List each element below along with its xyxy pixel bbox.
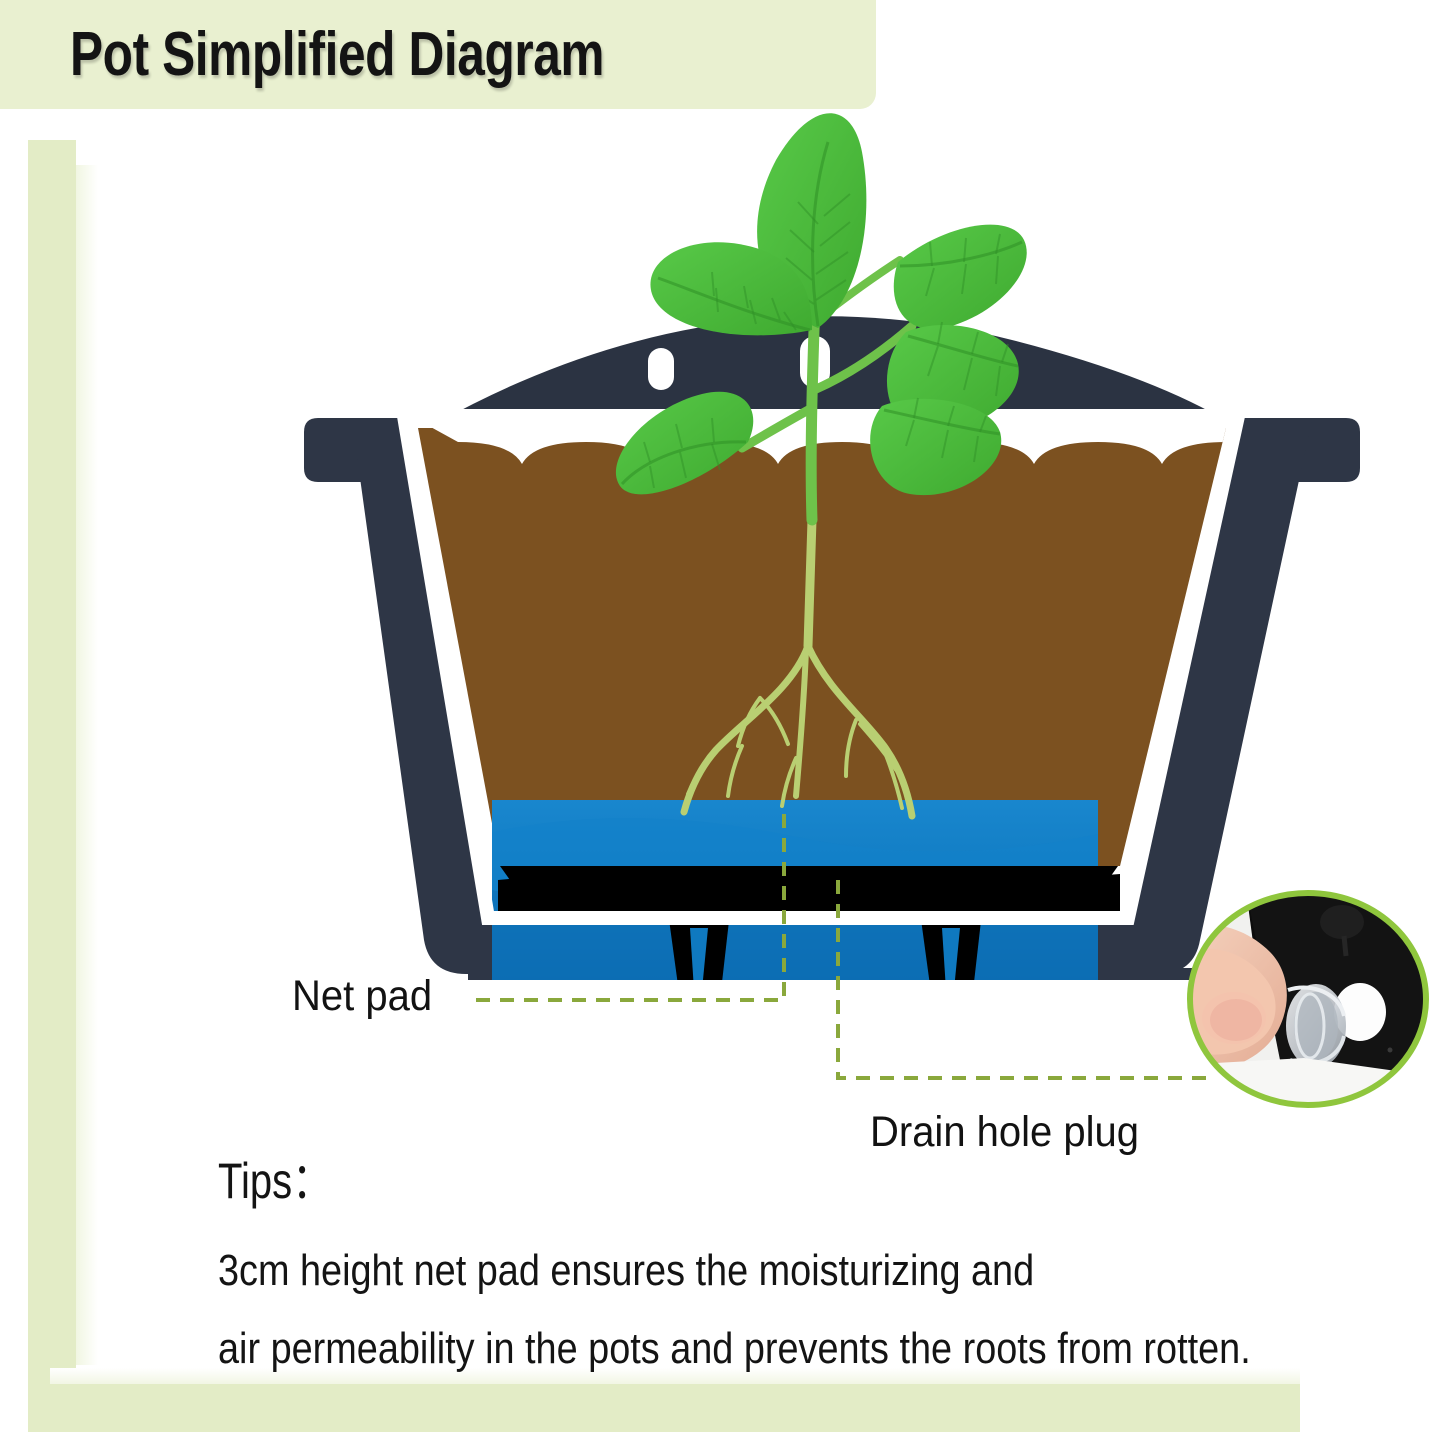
label-net-pad: Net pad	[292, 972, 432, 1020]
drain-plug-inset-photo	[1184, 890, 1432, 1108]
decorative-bottom-accent-bar	[28, 1382, 1300, 1432]
pot-diagram	[0, 90, 1445, 980]
tips-block: Tips： 3cm height net pad ensures the moi…	[218, 1148, 1433, 1388]
tips-line-1: 3cm height net pad ensures the moisturiz…	[218, 1232, 1263, 1310]
tips-heading: Tips：	[218, 1148, 1190, 1214]
pot-cutaway-illustration	[0, 90, 1445, 980]
rim-slot	[648, 348, 674, 390]
tips-line-2: air permeability in the pots and prevent…	[218, 1310, 1263, 1388]
leaf	[894, 225, 1027, 330]
page-title: Pot Simplified Diagram	[70, 12, 604, 98]
